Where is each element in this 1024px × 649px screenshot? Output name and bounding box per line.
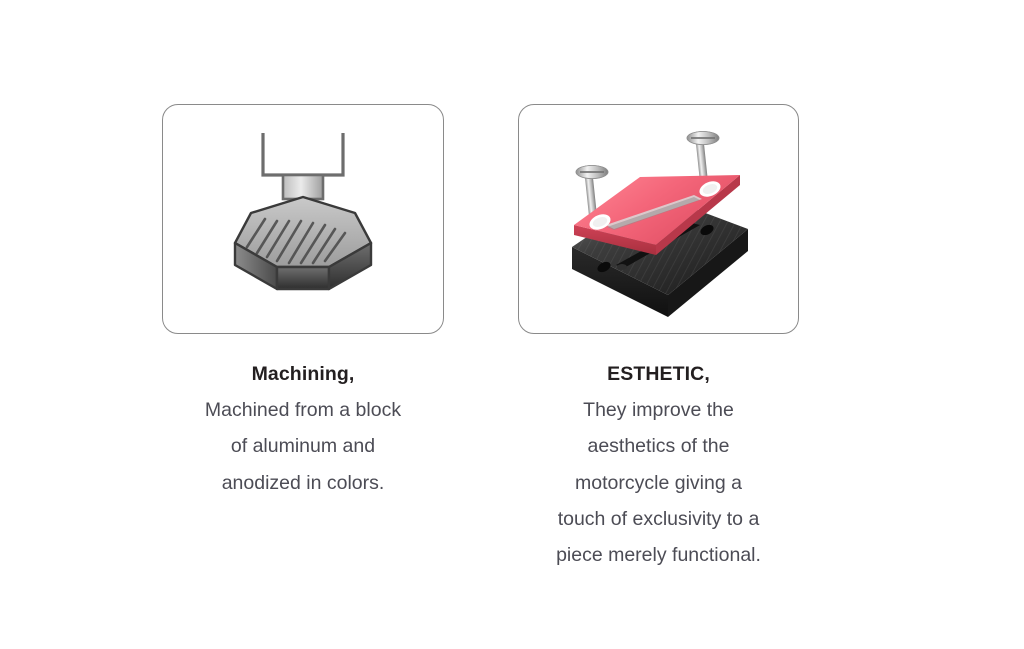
esthetic-text-block: ESTHETIC, They improve the aesthetics of… [518, 362, 799, 573]
description-line: aesthetics of the [518, 428, 799, 464]
esthetic-icon-frame [518, 104, 799, 334]
cnc-milling-machine-icon [203, 127, 403, 312]
description-line: touch of exclusivity to a [518, 501, 799, 537]
machining-text-block: Machining, Machined from a block of alum… [162, 362, 444, 501]
screw-head-right [687, 132, 719, 145]
machining-heading: Machining, [162, 362, 444, 386]
description-line: motorcycle giving a [518, 465, 799, 501]
anodized-plate-product-icon [544, 119, 774, 319]
feature-card-esthetic: ESTHETIC, They improve the aesthetics of… [518, 104, 799, 573]
feature-card-machining: Machining, Machined from a block of alum… [162, 104, 444, 501]
esthetic-description: They improve the aesthetics of the motor… [518, 392, 799, 572]
description-line: piece merely functional. [518, 537, 799, 573]
machining-icon-frame [162, 104, 444, 334]
feature-card-grid: Machining, Machined from a block of alum… [0, 0, 1024, 649]
description-line: They improve the [518, 392, 799, 428]
screw-head-left [576, 166, 608, 179]
esthetic-heading: ESTHETIC, [518, 362, 799, 386]
description-line: of aluminum and [162, 428, 444, 464]
machining-description: Machined from a block of aluminum and an… [162, 392, 444, 500]
description-line: anodized in colors. [162, 465, 444, 501]
description-line: Machined from a block [162, 392, 444, 428]
